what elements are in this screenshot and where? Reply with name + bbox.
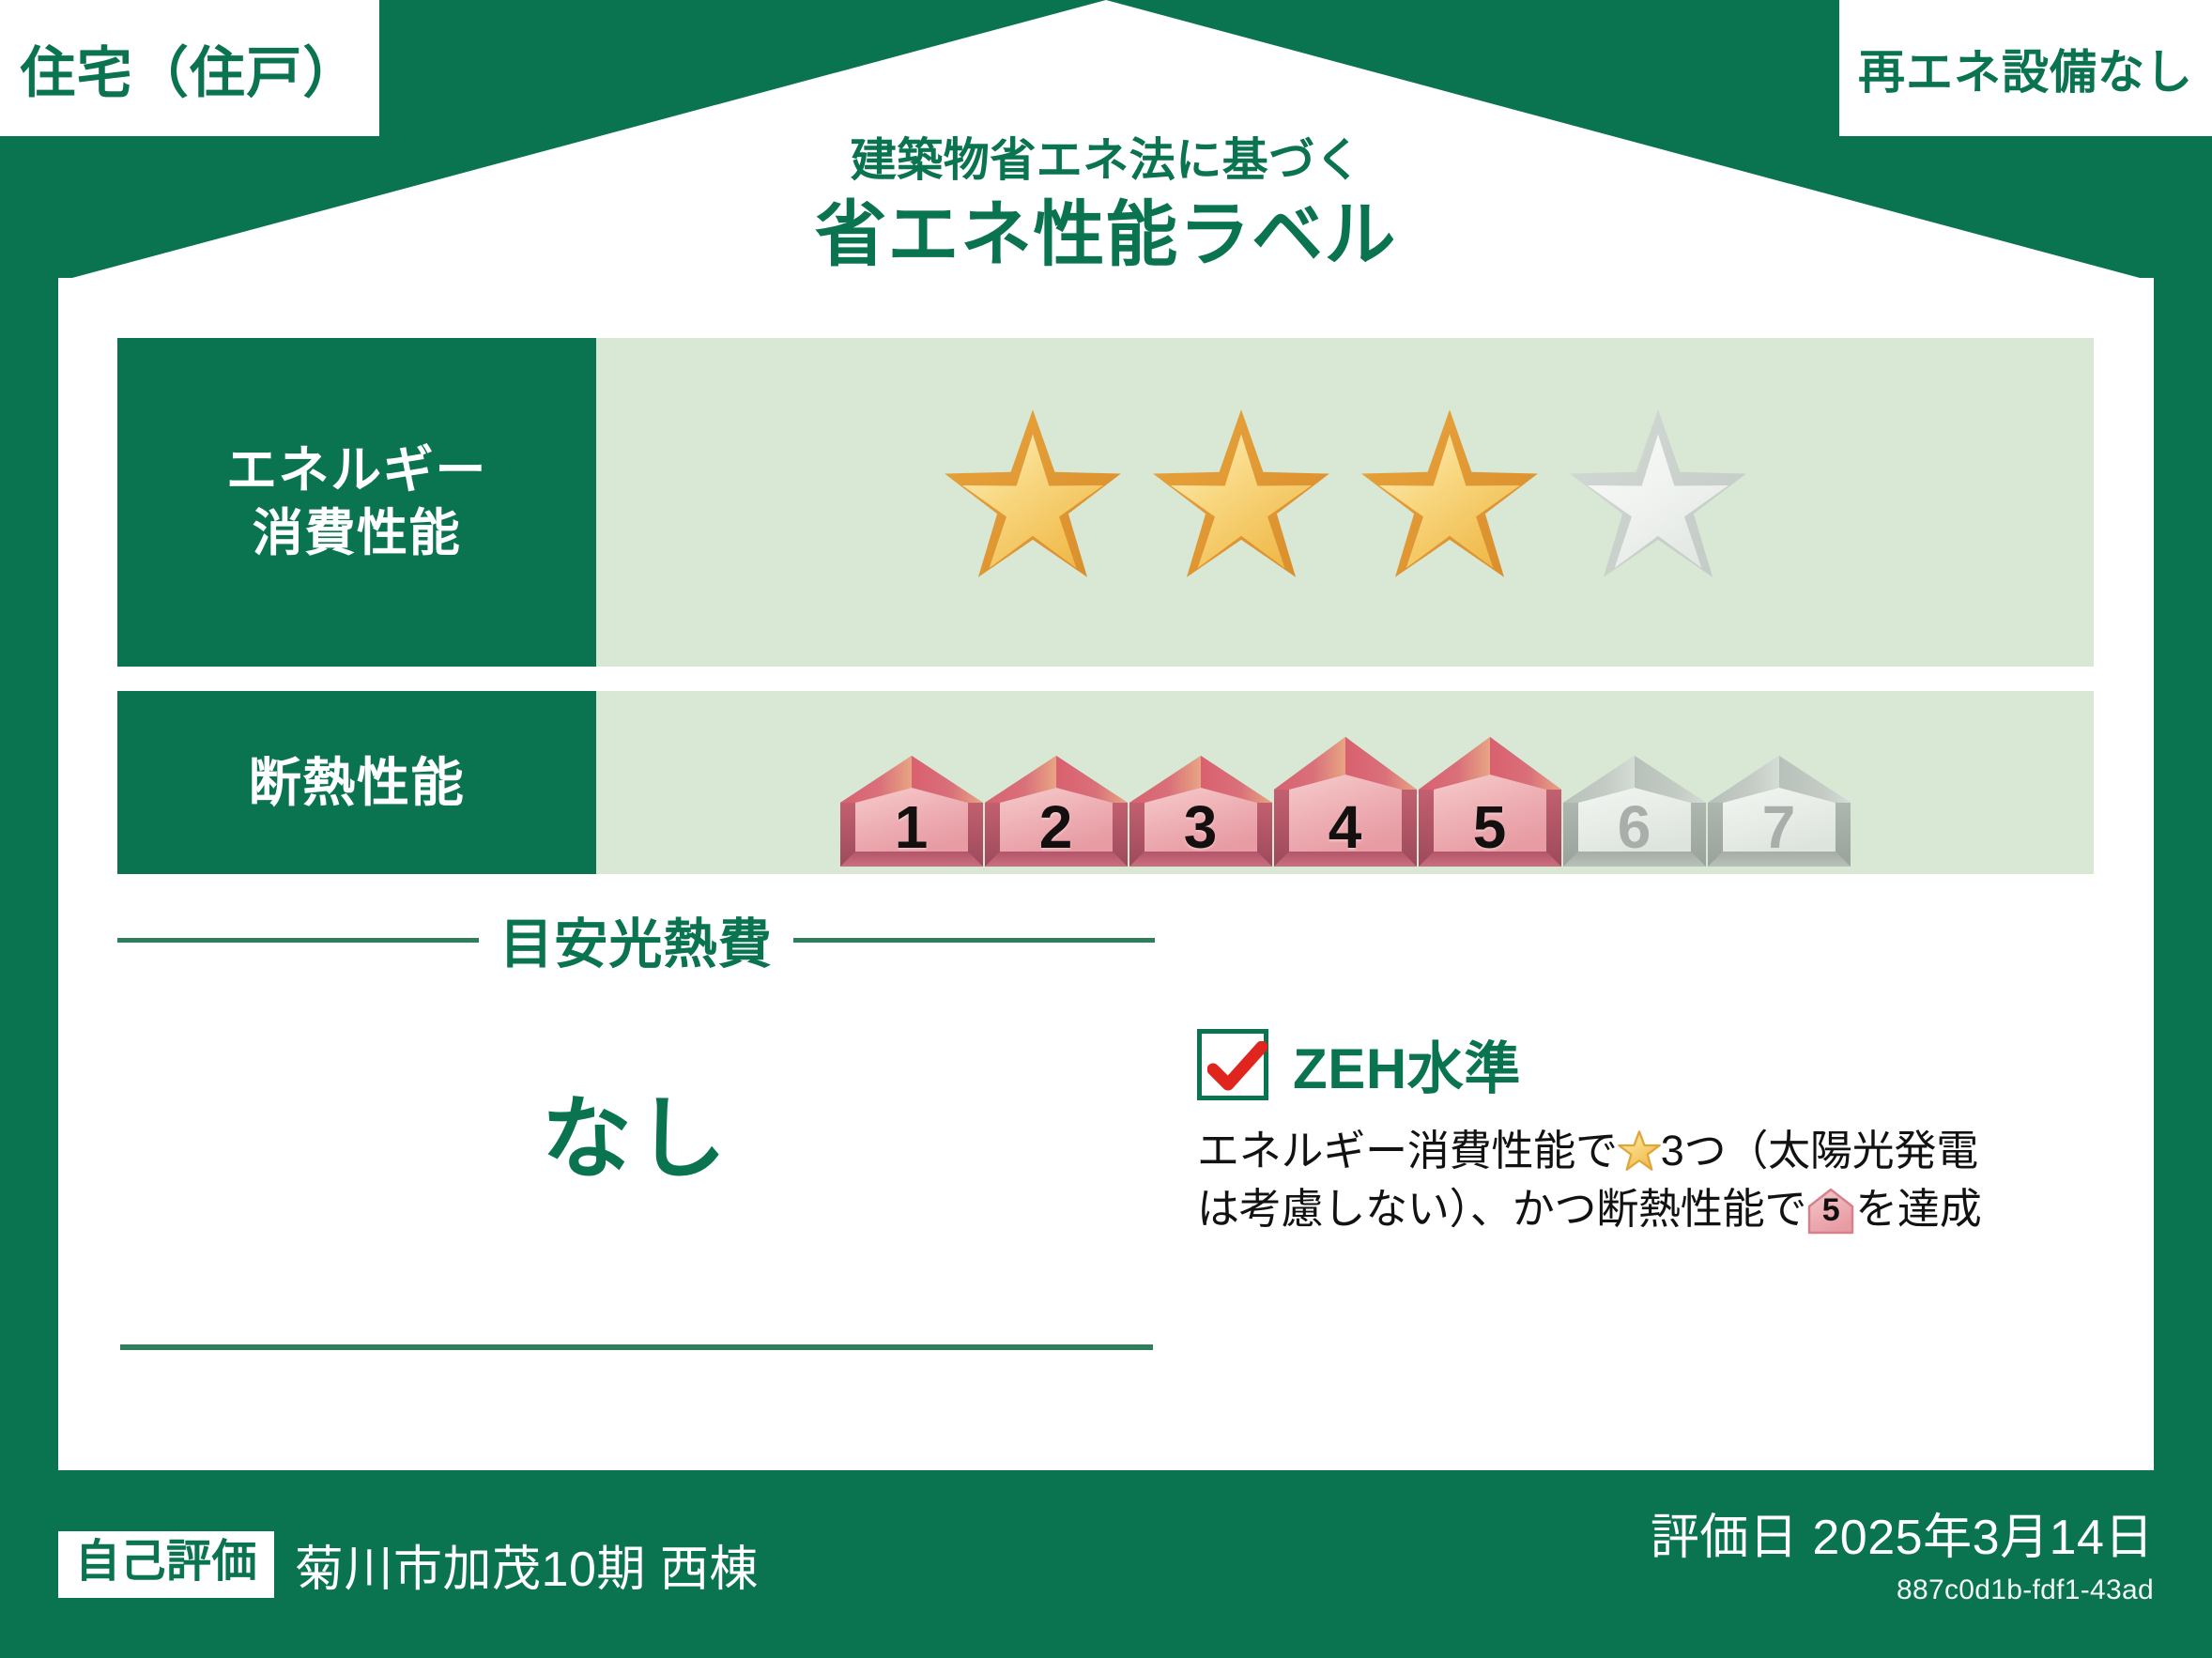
insulation-label-text: 断熱性能	[249, 750, 466, 816]
title-main: 省エネ性能ラベル	[0, 194, 2212, 276]
insulation-level-2: 2	[985, 756, 1128, 867]
zeh-standard-block: ZEH水準 エネルギー消費性能で 3つ（太陽光発電 は考慮しない）、かつ断熱性能…	[1197, 1023, 2127, 1238]
insulation-level-number: 6	[1563, 797, 1706, 857]
insulation-level-number: 5	[1419, 797, 1561, 857]
insulation-level-number: 3	[1129, 797, 1272, 857]
insulation-level-icon-number: 5	[1806, 1188, 1855, 1235]
insulation-level-number: 1	[840, 797, 983, 857]
footer-left-group: 自己評価 菊川市加茂10期 西棟	[58, 1529, 759, 1600]
star-filled-icon	[1143, 404, 1340, 601]
star-icon-inline	[1618, 1129, 1661, 1173]
energy-label-line1: エネルギー	[226, 439, 487, 503]
document-id: 887c0d1b-fdf1-43ad	[1651, 1574, 2154, 1606]
zeh-checkbox	[1197, 1029, 1268, 1100]
renewable-equipment-label: 再エネ設備なし	[1858, 35, 2193, 102]
insulation-level-7: 7	[1708, 756, 1851, 867]
evaluation-type-badge: 自己評価	[58, 1531, 274, 1597]
insulation-level-number: 7	[1708, 797, 1851, 857]
property-name: 菊川市加茂10期 西棟	[295, 1529, 759, 1600]
label-title-block: 建築物省エネ法に基づく 省エネ性能ラベル	[0, 136, 2212, 276]
check-icon	[1207, 1041, 1267, 1098]
building-type-label: 住宅（住戸）	[20, 28, 359, 108]
insulation-performance-label: 断熱性能	[117, 691, 596, 874]
star-filled-icon	[1351, 404, 1548, 601]
insulation-level-1: 1	[840, 756, 983, 867]
utility-cost-title: 目安光熱費	[499, 901, 773, 978]
title-subtitle: 建築物省エネ法に基づく	[0, 136, 2212, 187]
building-type-badge: 住宅（住戸）	[0, 0, 379, 136]
insulation-level-scale: 1 2 3 4 5 6	[840, 691, 1851, 874]
utility-cost-value: なし	[117, 1066, 1155, 1196]
insulation-level-number: 2	[985, 797, 1128, 857]
zeh-desc-part3: は考慮しない）、かつ断熱性能で	[1197, 1185, 1806, 1233]
energy-consumption-label: エネルギー 消費性能	[117, 338, 596, 667]
heading-rule-left	[117, 938, 479, 943]
energy-consumption-row: エネルギー 消費性能	[117, 338, 2094, 667]
insulation-level-icon-inline: 5	[1806, 1188, 1855, 1235]
evaluation-date: 評価日 2025年3月14日	[1651, 1512, 2154, 1565]
star-empty-icon	[1559, 404, 1757, 601]
label-footer: 自己評価 菊川市加茂10期 西棟 評価日 2025年3月14日 887c0d1b…	[0, 1470, 2212, 1658]
zeh-desc-part2: 3つ（太陽光発電	[1661, 1127, 1978, 1174]
rating-rows: エネルギー 消費性能 断熱性能 1 2	[117, 338, 2094, 898]
energy-performance-label: 住宅（住戸） 再エネ設備なし 建築物省エネ法に基づく 省エネ性能ラベル エネルギ…	[0, 0, 2212, 1658]
insulation-level-5: 5	[1419, 737, 1561, 867]
zeh-heading: ZEH水準	[1197, 1023, 2127, 1105]
insulation-level-6: 6	[1563, 756, 1706, 867]
renewable-equipment-badge: 再エネ設備なし	[1839, 0, 2212, 136]
footer-right-group: 評価日 2025年3月14日 887c0d1b-fdf1-43ad	[1651, 1512, 2154, 1606]
zeh-desc-part4: を達成	[1855, 1185, 1981, 1233]
heading-rule-right	[793, 938, 1155, 943]
energy-label-line2: 消費性能	[253, 502, 461, 566]
zeh-desc-part1: エネルギー消費性能で	[1197, 1127, 1618, 1174]
insulation-performance-value: 1 2 3 4 5 6	[596, 691, 2094, 874]
insulation-level-4: 4	[1274, 737, 1417, 867]
insulation-performance-row: 断熱性能 1 2 3 4	[117, 691, 2094, 874]
zeh-description: エネルギー消費性能で 3つ（太陽光発電 は考慮しない）、かつ断熱性能で 5 を達…	[1197, 1122, 2127, 1238]
insulation-level-3: 3	[1129, 756, 1272, 867]
zeh-title: ZEH水準	[1293, 1023, 1521, 1105]
energy-consumption-value	[596, 338, 2094, 667]
utility-cost-underline	[120, 1344, 1153, 1350]
insulation-level-number: 4	[1274, 797, 1417, 857]
star-filled-icon	[934, 404, 1131, 601]
star-rating	[934, 404, 1757, 601]
utility-cost-heading: 目安光熱費	[117, 901, 1155, 978]
